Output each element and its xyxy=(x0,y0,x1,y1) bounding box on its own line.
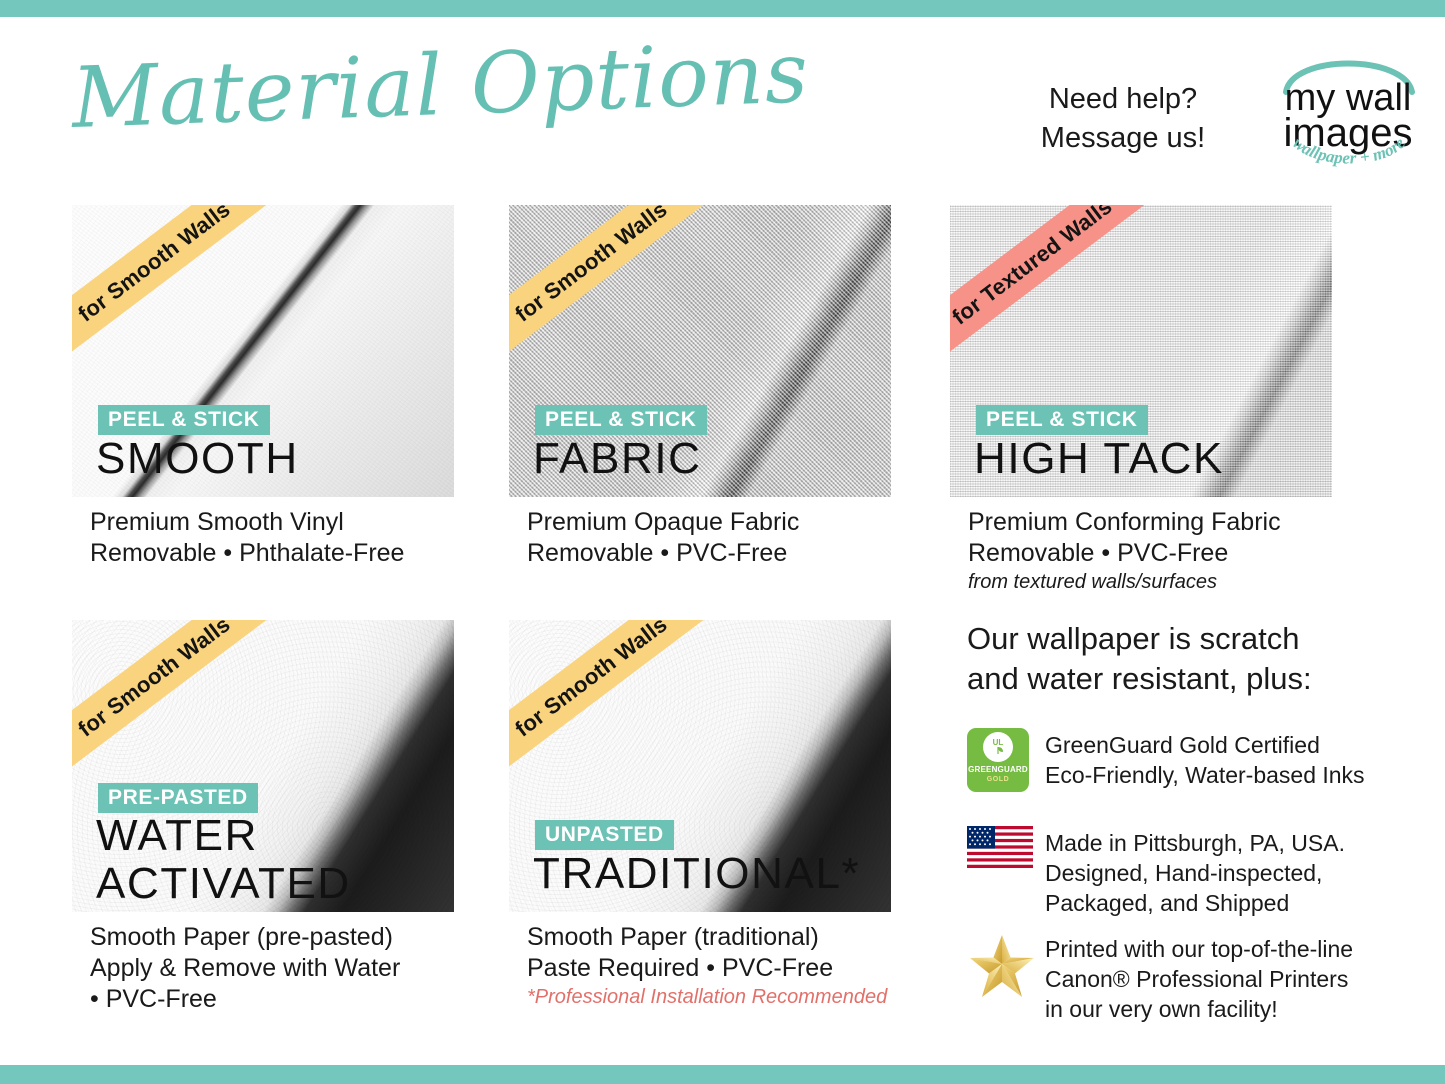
feature-canon-printers: Printed with our top-of-the-line Canon® … xyxy=(967,932,1387,1024)
adhesive-type-badge: PEEL & STICK xyxy=(98,405,270,435)
card-image-water-activated: for Smooth Walls PRE-PASTED WATER ACTIVA… xyxy=(72,620,454,912)
card-description: Premium Smooth Vinyl Removable • Phthala… xyxy=(90,507,490,569)
material-card-traditional[interactable]: for Smooth Walls UNPASTED TRADITIONAL* S… xyxy=(509,620,891,912)
card-image-smooth: for Smooth Walls PEEL & STICK SMOOTH xyxy=(72,205,454,497)
feature-line3: Packaged, and Shipped xyxy=(1045,888,1345,918)
adhesive-type-badge: UNPASTED xyxy=(535,820,674,850)
need-help-text: Need help? Message us! xyxy=(1008,80,1238,158)
card-heading: HIGH TACK xyxy=(974,435,1224,483)
adhesive-type-badge: PEEL & STICK xyxy=(535,405,707,435)
card-desc-line2: Removable • PVC-Free xyxy=(968,538,1368,569)
card-desc-line1: Premium Conforming Fabric xyxy=(968,507,1368,538)
card-heading: TRADITIONAL* xyxy=(533,850,860,898)
material-card-fabric[interactable]: for Smooth Walls PEEL & STICK FABRIC Pre… xyxy=(509,205,891,497)
card-desc-line1: Premium Smooth Vinyl xyxy=(90,507,490,538)
card-note: *Professional Installation Recommended xyxy=(527,984,927,1010)
card-desc-line1: Smooth Paper (traditional) xyxy=(527,922,927,953)
card-desc-line2: Apply & Remove with Water xyxy=(90,953,490,984)
greenguard-badge-name: GREENGUARD xyxy=(968,765,1028,774)
top-accent-bar xyxy=(0,0,1445,17)
greenguard-gold-badge-icon: UL GREENGUARD GOLD xyxy=(967,728,1045,792)
card-heading: SMOOTH xyxy=(96,435,299,483)
adhesive-type-badge: PEEL & STICK xyxy=(976,405,1148,435)
features-title: Our wallpaper is scratch and water resis… xyxy=(967,619,1387,699)
feature-made-in-usa: Made in Pittsburgh, PA, USA. Designed, H… xyxy=(967,826,1387,918)
card-image-fabric: for Smooth Walls PEEL & STICK FABRIC xyxy=(509,205,891,497)
features-title-line2: and water resistant, plus: xyxy=(967,659,1387,699)
brand-logo: my wall images wallpaper + more xyxy=(1272,38,1424,168)
feature-line2: Eco-Friendly, Water-based Inks xyxy=(1045,760,1365,790)
material-options-infographic: Material Options Need help? Message us! … xyxy=(0,0,1445,1084)
svg-text:UL: UL xyxy=(993,738,1004,747)
need-help-line1: Need help? xyxy=(1008,80,1238,119)
bottom-accent-bar xyxy=(0,1065,1445,1084)
material-card-water-activated[interactable]: for Smooth Walls PRE-PASTED WATER ACTIVA… xyxy=(72,620,454,912)
card-image-traditional: for Smooth Walls UNPASTED TRADITIONAL* xyxy=(509,620,891,912)
feature-greenguard: UL GREENGUARD GOLD GreenGuard Gold Certi… xyxy=(967,728,1387,792)
need-help-line2: Message us! xyxy=(1008,119,1238,158)
card-desc-line1: Premium Opaque Fabric xyxy=(527,507,927,538)
features-title-line1: Our wallpaper is scratch xyxy=(967,619,1387,659)
card-description: Premium Conforming Fabric Removable • PV… xyxy=(968,507,1368,595)
card-note: from textured walls/surfaces xyxy=(968,569,1368,595)
page-title: Material Options xyxy=(70,20,694,162)
usa-flag-icon xyxy=(967,826,1045,868)
card-image-high-tack: for Textured Walls PEEL & STICK HIGH TAC… xyxy=(950,205,1332,497)
card-description: Premium Opaque Fabric Removable • PVC-Fr… xyxy=(527,507,927,569)
feature-line2: Designed, Hand-inspected, xyxy=(1045,858,1345,888)
adhesive-type-badge: PRE-PASTED xyxy=(98,783,258,813)
feature-text: GreenGuard Gold Certified Eco-Friendly, … xyxy=(1045,728,1365,790)
gold-star-icon xyxy=(967,932,1045,1000)
card-description: Smooth Paper (pre-pasted) Apply & Remove… xyxy=(90,922,490,1015)
feature-line1: Made in Pittsburgh, PA, USA. xyxy=(1045,828,1345,858)
card-desc-line2: Removable • Phthalate-Free xyxy=(90,538,490,569)
feature-line1: GreenGuard Gold Certified xyxy=(1045,730,1365,760)
card-heading: FABRIC xyxy=(533,435,702,483)
feature-line3: in our very own facility! xyxy=(1045,994,1353,1024)
card-description: Smooth Paper (traditional) Paste Require… xyxy=(527,922,927,1010)
card-desc-line2: Removable • PVC-Free xyxy=(527,538,927,569)
card-desc-line3: • PVC-Free xyxy=(90,984,490,1015)
feature-line2: Canon® Professional Printers xyxy=(1045,964,1353,994)
material-card-high-tack[interactable]: for Textured Walls PEEL & STICK HIGH TAC… xyxy=(950,205,1332,497)
card-heading: WATER ACTIVATED xyxy=(96,812,426,908)
material-card-smooth[interactable]: for Smooth Walls PEEL & STICK SMOOTH Pre… xyxy=(72,205,454,497)
feature-text: Printed with our top-of-the-line Canon® … xyxy=(1045,932,1353,1024)
feature-line1: Printed with our top-of-the-line xyxy=(1045,934,1353,964)
card-desc-line2: Paste Required • PVC-Free xyxy=(527,953,927,984)
feature-text: Made in Pittsburgh, PA, USA. Designed, H… xyxy=(1045,826,1345,918)
greenguard-badge-tier: GOLD xyxy=(987,776,1010,783)
card-desc-line1: Smooth Paper (pre-pasted) xyxy=(90,922,490,953)
